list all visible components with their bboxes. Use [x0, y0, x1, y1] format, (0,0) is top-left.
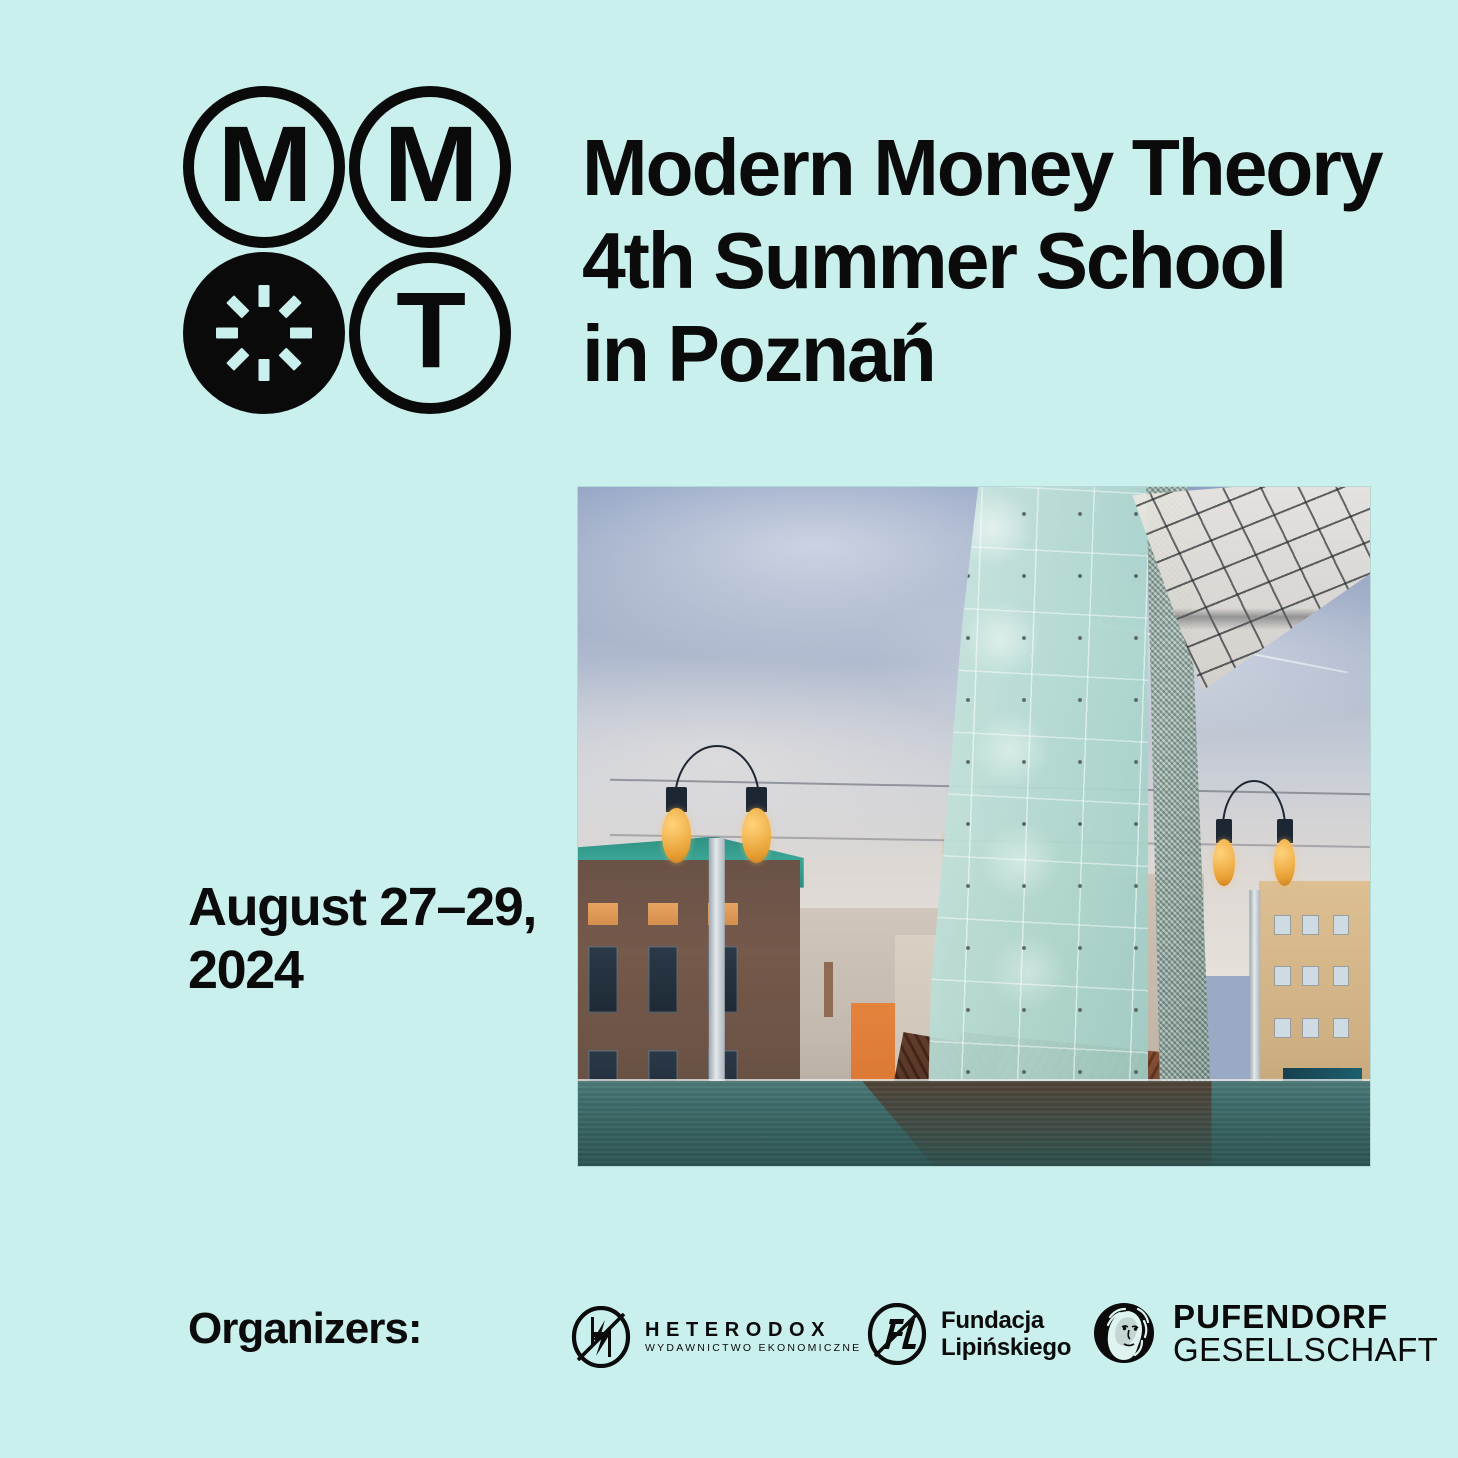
logo-letter-m2: M [383, 110, 476, 218]
logo-circle-sun [183, 252, 345, 414]
organizers-row: Organizers: HETERODOX WYDAWNICTWO EKONOM… [188, 1297, 1378, 1393]
organizer-fundacja-lipinskiego[interactable]: Fundacja Lipińskiego [866, 1303, 1071, 1365]
logo-circle-m2: M [349, 86, 511, 248]
pufendorf-name-line-2: GESELLSCHAFT [1173, 1333, 1438, 1367]
venue-photo [578, 487, 1370, 1166]
title-line-2: 4th Summer School [582, 214, 1429, 307]
heterodox-lightning-icon [570, 1306, 632, 1368]
logo-circle-t: T [349, 252, 511, 414]
fl-monogram-icon [866, 1303, 928, 1365]
logo-letter-m1: M [217, 110, 310, 218]
title-line-1: Modern Money Theory [582, 121, 1429, 214]
pufendorf-portrait-icon [1088, 1297, 1160, 1369]
fundacja-name-line-1: Fundacja [941, 1307, 1071, 1334]
date-line-2: 2024 [188, 939, 608, 1002]
logo-circle-m1: M [183, 86, 345, 248]
event-dates: August 27–29, 2024 [188, 876, 608, 1002]
page-title: Modern Money Theory 4th Summer School in… [582, 121, 1442, 400]
organizer-pufendorf-gesellschaft[interactable]: PUFENDORF GESELLSCHAFT [1088, 1297, 1438, 1369]
title-line-3: in Poznań [582, 307, 1429, 400]
photo-pool-edge [578, 1079, 1370, 1081]
photo-water-shimmer [578, 1081, 1370, 1166]
logo-letter-t: T [396, 276, 464, 384]
fundacja-name-line-2: Lipińskiego [941, 1334, 1071, 1361]
pufendorf-name-line-1: PUFENDORF [1173, 1300, 1438, 1333]
organizers-label: Organizers: [188, 1303, 422, 1355]
mmt-logo: M M T [183, 86, 531, 434]
heterodox-name: HETERODOX [645, 1319, 861, 1341]
organizer-heterodox[interactable]: HETERODOX WYDAWNICTWO EKONOMICZNE [570, 1306, 861, 1368]
photo-chimney [824, 962, 834, 1016]
date-line-1: August 27–29, [188, 876, 608, 939]
heterodox-subtitle: WYDAWNICTWO EKONOMICZNE [645, 1341, 861, 1355]
sun-burst-icon [210, 279, 318, 387]
poster-root: M M T Modern Money Theory 4th Summer Sch… [0, 0, 1458, 1458]
